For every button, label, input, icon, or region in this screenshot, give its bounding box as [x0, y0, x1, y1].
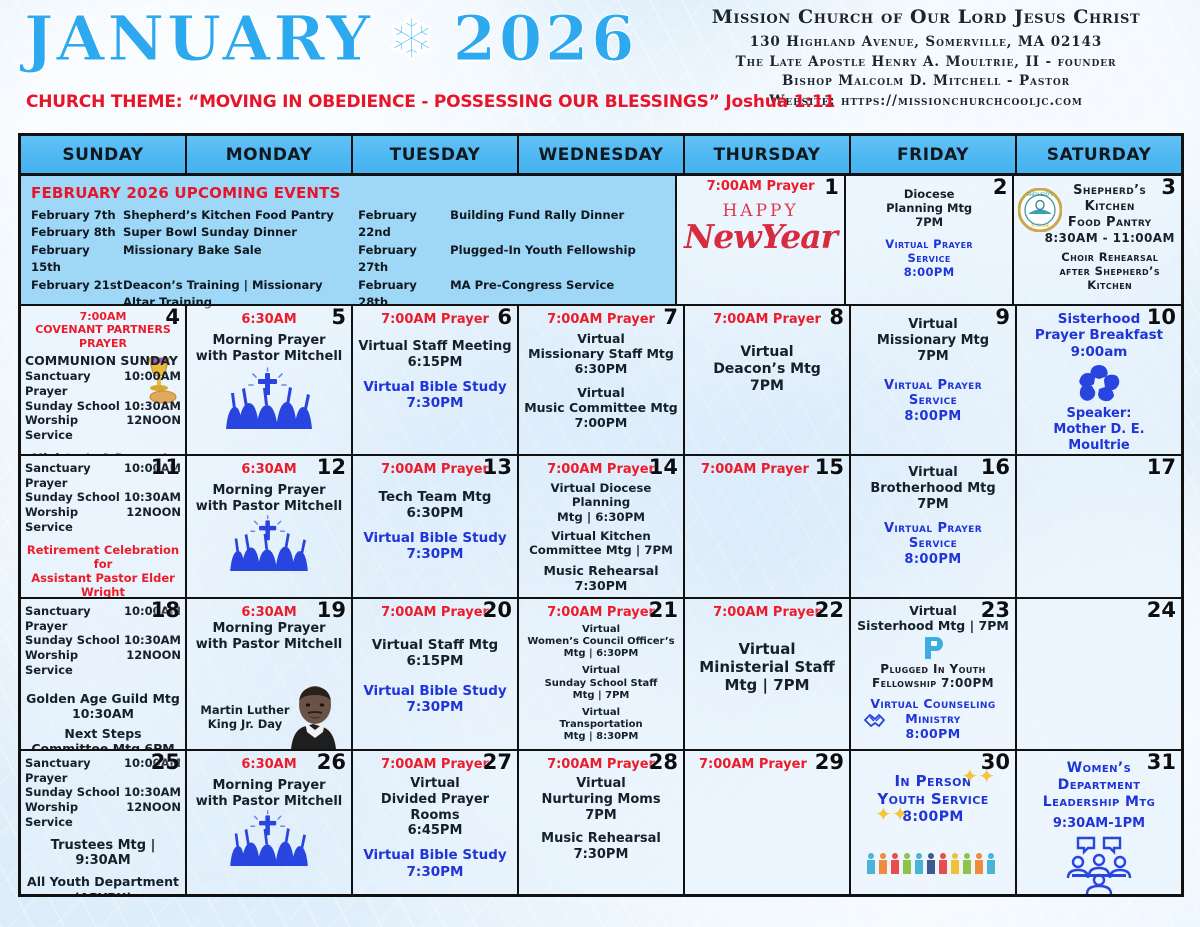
- service-row: Sunday School 10:30AM: [25, 399, 181, 414]
- day-number: 11: [151, 456, 180, 478]
- service-time: 10:30AM: [124, 633, 181, 648]
- day-cell-17[interactable]: 17: [1017, 456, 1181, 599]
- service-row: Sunday School 10:30AM: [25, 785, 181, 800]
- day-cell-5[interactable]: 5 6:30AM Morning Prayer with Pastor Mitc…: [187, 306, 353, 456]
- event-line: Virtual Prayer: [855, 378, 1011, 394]
- day-number: 10: [1147, 306, 1176, 328]
- event-line: Music Committee Mtg: [523, 400, 679, 415]
- service-name: Sanctuary Prayer: [25, 461, 124, 490]
- event-line: Virtual Kitchen: [523, 529, 679, 543]
- event-line: Virtual: [855, 317, 1011, 333]
- event-line: Morning Prayer: [191, 333, 347, 349]
- event-line: 7PM: [850, 215, 1009, 229]
- day-cell-6[interactable]: 6 7:00AM Prayer Virtual Staff Meeting 6:…: [353, 306, 519, 456]
- week-row-4: 18 Sanctuary Prayer 10:00AM Sunday Schoo…: [21, 599, 1181, 751]
- event-line: 9:30AM-1PM: [1021, 816, 1177, 832]
- day-cell-28[interactable]: 28 7:00AM Prayer Virtual Nurturing Moms …: [519, 751, 685, 894]
- weekday-header-row: SUNDAY MONDAY TUESDAY WEDNESDAY THURSDAY…: [21, 136, 1181, 176]
- february-event-desc: Missionary Bake Sale: [123, 242, 338, 277]
- event-line: Transportation: [523, 719, 679, 731]
- event-line: after Shepherd’s: [1042, 264, 1177, 278]
- february-right-column: February 22nd Building Fund Rally Dinner…: [358, 207, 665, 311]
- february-event-desc: Shepherd’s Kitchen Food Pantry: [123, 207, 338, 224]
- february-event-row: February 15th Missionary Bake Sale: [31, 242, 338, 277]
- event-line: Morning Prayer: [191, 778, 347, 794]
- event-line: Virtual: [357, 776, 513, 792]
- helping-hands-icon: [1076, 362, 1122, 404]
- day-number: 31: [1147, 751, 1176, 773]
- event-line: 6:15PM: [357, 653, 513, 669]
- day-cell-15[interactable]: 15 7:00AM Prayer: [685, 456, 851, 599]
- holiday-label: Martin Luther: [197, 703, 293, 717]
- event-line: 8:00PM: [850, 265, 1009, 279]
- day-cell-18[interactable]: 18 Sanctuary Prayer 10:00AM Sunday Schoo…: [21, 599, 187, 751]
- service-time: 12NOON: [126, 800, 181, 829]
- event-line: Music Rehearsal: [523, 831, 679, 847]
- service-time: 10:30AM: [124, 785, 181, 800]
- church-name: Mission Church of Our Lord Jesus Christ: [666, 6, 1186, 28]
- day-cell-29[interactable]: 29 7:00AM Prayer: [685, 751, 851, 894]
- event-line: Shepherd’s: [1042, 183, 1177, 199]
- day-number: 2: [993, 176, 1008, 198]
- event-prayer: 7:00AM Prayer: [689, 312, 845, 328]
- february-event-desc: Building Fund Rally Dinner: [450, 207, 665, 242]
- event-line: Golden Age Guild Mtg 10:30AM: [25, 691, 181, 722]
- day-cell-2[interactable]: 2 Diocese Planning Mtg 7PM Virtual Praye…: [846, 176, 1015, 306]
- event-line: 7:30PM: [357, 546, 513, 562]
- service-name: Sanctuary Prayer: [25, 369, 124, 398]
- praise-worship-icon: [220, 810, 318, 866]
- speaker-label: Speaker:: [1021, 406, 1177, 422]
- day-number: 24: [1147, 599, 1176, 621]
- service-name: Sanctuary Prayer: [25, 604, 124, 633]
- day-cell-8[interactable]: 8 7:00AM Prayer Virtual Deacon’s Mtg 7PM: [685, 306, 851, 456]
- service-time: 10:30AM: [124, 399, 181, 414]
- day-number: 3: [1161, 176, 1176, 198]
- day-cell-27[interactable]: 27 7:00AM Prayer Virtual Divided Prayer …: [353, 751, 519, 894]
- day-cell-4[interactable]: 4 7:00AM COVENANT PARTNERS PRAYER COMMUN…: [21, 306, 187, 456]
- church-pastor: Bishop Malcolm D. Mitchell - Pastor: [666, 72, 1186, 92]
- day-number: 17: [1147, 456, 1176, 478]
- week-row-3: 11 Sanctuary Prayer 10:00AM Sunday Schoo…: [21, 456, 1181, 599]
- day-number: 26: [317, 751, 346, 773]
- event-line: Virtual Staff Mtg: [357, 637, 513, 653]
- service-time: 10:30AM: [124, 490, 181, 505]
- day-number: 16: [981, 456, 1010, 478]
- holiday-label: King Jr. Day: [197, 717, 293, 731]
- weekday-thursday: THURSDAY: [685, 136, 851, 176]
- event-line: Mtg | 8:30PM: [523, 731, 679, 743]
- february-event-date: February 22nd: [358, 207, 450, 242]
- day-number: 25: [151, 751, 180, 773]
- service-name: Sunday School: [25, 785, 120, 800]
- weekday-tuesday: TUESDAY: [353, 136, 519, 176]
- event-line: Kitchen: [1042, 278, 1177, 292]
- day-cell-11[interactable]: 11 Sanctuary Prayer 10:00AM Sunday Schoo…: [21, 456, 187, 599]
- day-number: 18: [151, 599, 180, 621]
- event-line: Brotherhood Mtg: [855, 481, 1011, 497]
- event-line: Virtual: [689, 344, 845, 361]
- event-line: Virtual: [689, 640, 845, 658]
- event-line: Missionary Mtg: [855, 333, 1011, 349]
- event-prayer: 7:00AM Prayer: [523, 312, 679, 328]
- handshake-icon: [863, 711, 891, 729]
- event-line: 6:30PM: [523, 361, 679, 376]
- service-row: Sunday School 10:30AM: [25, 490, 181, 505]
- day-cell-9[interactable]: 9 Virtual Missionary Mtg 7PM Virtual Pra…: [851, 306, 1017, 456]
- event-line: Mtg | 6:30PM: [523, 648, 679, 660]
- event-line: Virtual Prayer: [855, 521, 1011, 537]
- event-line: Choir Rehearsal: [1042, 250, 1177, 264]
- event-line: Committee Mtg | 7PM: [523, 543, 679, 557]
- service-row: Worship Service 12NOON: [25, 413, 181, 442]
- event-line: Virtual: [523, 385, 679, 400]
- event-prayer: 7:00AM Prayer: [357, 312, 513, 328]
- event-line: 7:30PM: [523, 847, 679, 863]
- day-number: 30: [981, 751, 1010, 773]
- event-line: 7PM: [855, 497, 1011, 513]
- sparkle-icon: ✦✦: [875, 802, 909, 826]
- february-event-desc: Plugged-In Youth Fellowship: [450, 242, 665, 277]
- event-line: Service: [855, 393, 1011, 409]
- speaker-name: Mother D. E. Moultrie: [1021, 422, 1177, 454]
- event-line: Virtual: [523, 624, 679, 636]
- service-name: Sunday School: [25, 399, 120, 414]
- event-line: Ministerial Staff: [689, 658, 845, 676]
- weekday-friday: FRIDAY: [851, 136, 1017, 176]
- february-event-row: February 7th Shepherd’s Kitchen Food Pan…: [31, 207, 338, 224]
- service-row: Worship Service 12NOON: [25, 505, 181, 534]
- day-cell-21[interactable]: 21 7:00AM Prayer Virtual Women’s Council…: [519, 599, 685, 751]
- service-name: Worship Service: [25, 800, 126, 829]
- weekday-saturday: SATURDAY: [1017, 136, 1181, 176]
- event-line: Department: [1021, 777, 1177, 794]
- event-line: Divided Prayer Rooms: [357, 792, 513, 824]
- praise-worship-icon: [220, 367, 318, 429]
- event-line: COVENANT PARTNERS PRAYER: [25, 323, 181, 350]
- event-line: with Pastor Mitchell: [191, 349, 347, 365]
- event-line: Virtual Bible Study: [357, 379, 513, 395]
- february-event-date: February 8th: [31, 224, 123, 241]
- february-panel-title: FEBRUARY 2026 UPCOMING EVENTS: [31, 184, 665, 202]
- week-row-5: 25 Sanctuary Prayer 10:00AM Sunday Schoo…: [21, 751, 1181, 894]
- event-line: Virtual Staff Meeting: [357, 339, 513, 355]
- february-event-desc: Super Bowl Sunday Dinner: [123, 224, 338, 241]
- event-line: 7PM: [523, 808, 679, 824]
- day-number: 5: [331, 306, 346, 328]
- event-line: Virtual Bible Study: [357, 683, 513, 699]
- church-founder: The Late Apostle Henry A. Moultrie, II -…: [666, 53, 1186, 73]
- event-line: 7PM: [855, 349, 1011, 365]
- week-row-2: 4 7:00AM COVENANT PARTNERS PRAYER COMMUN…: [21, 306, 1181, 456]
- church-address: 130 Highland Avenue, Somerville, MA 0214…: [666, 33, 1186, 53]
- day-number: 27: [483, 751, 512, 773]
- calendar-grid: SUNDAY MONDAY TUESDAY WEDNESDAY THURSDAY…: [18, 133, 1184, 897]
- day-number: 22: [815, 599, 844, 621]
- event-line: 7:30PM: [357, 395, 513, 411]
- event-line: Morning Prayer: [191, 621, 347, 637]
- day-cell-7[interactable]: 7 7:00AM Prayer Virtual Missionary Staff…: [519, 306, 685, 456]
- february-event-date: February 27th: [358, 242, 450, 277]
- event-line: Diocese: [850, 187, 1009, 201]
- day-cell-24[interactable]: 24: [1017, 599, 1181, 751]
- day-number: 6: [497, 306, 512, 328]
- service-row: Sunday School 10:30AM: [25, 633, 181, 648]
- event-time: 6:30AM: [191, 312, 347, 328]
- page-header: JANUARY ❄ 2026 Mission Church of Our Lor…: [0, 0, 1200, 128]
- day-number: 19: [317, 599, 346, 621]
- event-line: Deacon’s Mtg: [689, 361, 845, 378]
- event-line: Virtual Counseling: [855, 696, 1011, 711]
- service-row: Worship Service 12NOON: [25, 648, 181, 677]
- praise-worship-icon: [220, 515, 318, 571]
- event-line: 7:30PM: [523, 578, 679, 593]
- church-theme: CHURCH THEME: “MOVING IN OBEDIENCE - POS…: [26, 92, 835, 112]
- meeting-people-icon: [1062, 834, 1136, 894]
- day-cell-31[interactable]: 31 Women’s Department Leadership Mtg 9:3…: [1017, 751, 1181, 894]
- event-line: 7:30PM: [357, 699, 513, 715]
- event-line: Virtual: [523, 776, 679, 792]
- event-prayer: 7:00AM Prayer: [681, 179, 840, 195]
- service-time: 12NOON: [126, 505, 181, 534]
- event-line: 8:00PM: [855, 409, 1011, 425]
- month-label: JANUARY: [24, 8, 373, 70]
- day-number: 29: [815, 751, 844, 773]
- day-cell-22[interactable]: 22 7:00AM Prayer Virtual Ministerial Sta…: [685, 599, 851, 751]
- event-line: 7PM: [689, 378, 845, 395]
- event-line: Women’s Council Officer’s: [523, 636, 679, 648]
- day-cell-30[interactable]: 30 In Person Youth Service 8:00PM: [851, 751, 1017, 894]
- event-line: Virtual Prayer: [850, 237, 1009, 251]
- service-time: 12NOON: [126, 648, 181, 677]
- day-number: 14: [649, 456, 678, 478]
- day-number: 21: [649, 599, 678, 621]
- event-line: Assistant Pastor Elder Wright: [25, 571, 181, 599]
- event-line: with Pastor Mitchell: [191, 637, 347, 653]
- day-cell-14[interactable]: 14 7:00AM Prayer Virtual Diocese Plannin…: [519, 456, 685, 599]
- service-name: Worship Service: [25, 648, 126, 677]
- service-row: Sanctuary Prayer 10:00AM: [25, 369, 181, 398]
- day-cell-3[interactable]: 3 SHEPHERD'S KITCHEN Shepherd’s Kitchen …: [1014, 176, 1181, 306]
- service-name: Worship Service: [25, 413, 126, 442]
- event-line: Virtual: [523, 665, 679, 677]
- weekday-sunday: SUNDAY: [21, 136, 187, 176]
- day-cell-13[interactable]: 13 7:00AM Prayer Tech Team Mtg 6:30PM Vi…: [353, 456, 519, 599]
- event-line: Virtual Diocese Planning: [523, 481, 679, 510]
- event-line: Mtg | 7PM: [689, 676, 845, 694]
- service-name: Worship Service: [25, 505, 126, 534]
- event-line: Virtual Bible Study: [357, 847, 513, 863]
- day-cell-16[interactable]: 16 Virtual Brotherhood Mtg 7PM Virtual P…: [851, 456, 1017, 599]
- event-line: 9:00am: [1021, 344, 1177, 360]
- service-row: Worship Service 12NOON: [25, 800, 181, 829]
- event-line: Sunday School Staff: [523, 678, 679, 690]
- event-line: 7:00PM: [523, 415, 679, 430]
- event-line: Trustees Mtg | 9:30AM: [25, 838, 181, 870]
- day-number: 8: [829, 306, 844, 328]
- day-number: 15: [815, 456, 844, 478]
- event-line: Next Steps Committee Mtg 6PM: [25, 726, 181, 751]
- event-line: Service: [850, 251, 1009, 265]
- event-line: Tech Team Mtg: [357, 489, 513, 505]
- day-number: 20: [483, 599, 512, 621]
- event-line: 8:00PM: [855, 552, 1011, 568]
- calendar-page: JANUARY ❄ 2026 Mission Church of Our Lor…: [0, 0, 1200, 927]
- day-number: 9: [995, 306, 1010, 328]
- event-line: Mtg | 7PM: [523, 690, 679, 702]
- week-row-1: FEBRUARY 2026 UPCOMING EVENTS February 7…: [21, 176, 1181, 306]
- february-event-row: February 22nd Building Fund Rally Dinner: [358, 207, 665, 242]
- event-time: 7:00AM: [25, 310, 181, 323]
- service-time: 12NOON: [126, 413, 181, 442]
- event-line: with Pastor Mitchell: [191, 794, 347, 810]
- event-line: Virtual: [523, 707, 679, 719]
- event-line: All Youth Department (ABYPU): [25, 874, 181, 894]
- event-line: Virtual Bible Study: [357, 530, 513, 546]
- day-cell-23[interactable]: 23 Virtual Sisterhood Mtg | 7PM Plugged …: [851, 599, 1017, 751]
- day-cell-10[interactable]: 10 Sisterhood Prayer Breakfast 9:00am: [1017, 306, 1181, 456]
- service-name: Sanctuary Prayer: [25, 756, 124, 785]
- event-line: 7:30PM: [357, 864, 513, 880]
- day-cell-19[interactable]: 19 6:30AM Morning Prayer with Pastor Mit…: [187, 599, 353, 751]
- event-line: Prayer Breakfast: [1021, 327, 1177, 343]
- weekday-wednesday: WEDNESDAY: [519, 136, 685, 176]
- new-year-text: NewYear: [681, 220, 840, 253]
- event-line: 6:15PM: [357, 355, 513, 371]
- february-event-row: February 8th Super Bowl Sunday Dinner: [31, 224, 338, 241]
- event-line: Plugged In Youth: [855, 662, 1011, 677]
- february-left-column: February 7th Shepherd’s Kitchen Food Pan…: [31, 207, 338, 311]
- day-cell-12[interactable]: 12 6:30AM Morning Prayer with Pastor Mit…: [187, 456, 353, 599]
- service-name: Sunday School: [25, 633, 120, 648]
- event-line: 8:30AM - 11:00AM: [1042, 231, 1177, 246]
- day-cell-25[interactable]: 25 Sanctuary Prayer 10:00AM Sunday Schoo…: [21, 751, 187, 894]
- february-events-panel: FEBRUARY 2026 UPCOMING EVENTS February 7…: [21, 176, 677, 306]
- communion-label: COMMUNION SUNDAY: [25, 353, 181, 369]
- day-cell-26[interactable]: 26 6:30AM Morning Prayer with Pastor Mit…: [187, 751, 353, 894]
- plugged-in-logo-icon: [917, 635, 949, 661]
- day-number: 4: [165, 306, 180, 328]
- event-line: Mtg | 6:30PM: [523, 510, 679, 524]
- event-line: Missionary Staff Mtg: [523, 346, 679, 361]
- day-number: 12: [317, 456, 346, 478]
- day-number: 13: [483, 456, 512, 478]
- weekday-monday: MONDAY: [187, 136, 353, 176]
- service-time: 10:00AM: [124, 369, 181, 398]
- event-line: Nurturing Moms: [523, 792, 679, 808]
- event-line: Fellowship 7:00PM: [855, 676, 1011, 691]
- event-line: with Pastor Mitchell: [191, 499, 347, 515]
- event-line: 6:45PM: [357, 823, 513, 839]
- event-line: Retirement Celebration for: [25, 543, 181, 571]
- event-line: Kitchen: [1042, 199, 1177, 215]
- event-line: Food Pantry: [1042, 215, 1177, 231]
- year-label: 2026: [453, 8, 638, 70]
- february-event-date: February 15th: [31, 242, 123, 277]
- day-number: 1: [824, 176, 839, 198]
- event-line: Service: [855, 536, 1011, 552]
- day-cell-1[interactable]: 1 7:00AM Prayer HAPPY NewYear: [677, 176, 846, 306]
- february-event-row: February 27th Plugged-In Youth Fellowshi…: [358, 242, 665, 277]
- day-number: 23: [981, 599, 1010, 621]
- service-name: Sunday School: [25, 490, 120, 505]
- event-line: Virtual: [523, 331, 679, 346]
- page-title: JANUARY ❄ 2026: [24, 8, 637, 70]
- event-line: Leadership Mtg: [1021, 794, 1177, 811]
- february-event-date: February 7th: [31, 207, 123, 224]
- snowflake-icon: ❄: [387, 10, 439, 68]
- event-line: Morning Prayer: [191, 483, 347, 499]
- youth-group-icon: [863, 850, 1003, 876]
- event-line: Planning Mtg: [850, 201, 1009, 215]
- event-line: 6:30PM: [357, 505, 513, 521]
- day-number: 7: [663, 306, 678, 328]
- day-number: 28: [649, 751, 678, 773]
- event-line: Music Rehearsal: [523, 563, 679, 578]
- day-cell-20[interactable]: 20 7:00AM Prayer Virtual Staff Mtg 6:15P…: [353, 599, 519, 751]
